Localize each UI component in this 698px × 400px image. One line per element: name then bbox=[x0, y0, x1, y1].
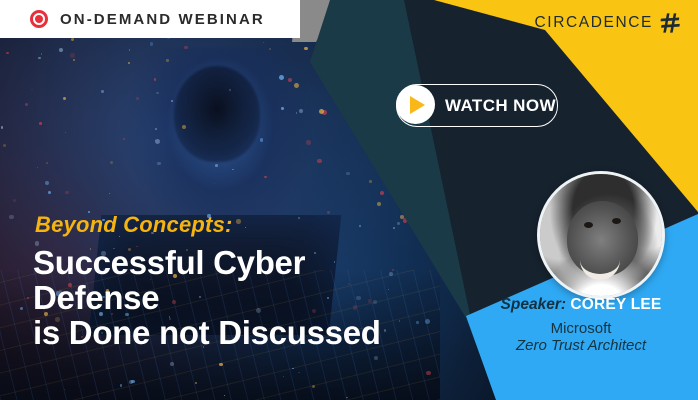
on-demand-bar: ON-DEMAND WEBINAR bbox=[0, 0, 300, 38]
play-triangle-icon bbox=[410, 96, 425, 114]
speaker-name: COREY LEE bbox=[570, 296, 661, 313]
avatar bbox=[537, 171, 665, 299]
watch-now-button[interactable]: WATCH NOW bbox=[396, 84, 558, 127]
speaker-label: Speaker: bbox=[501, 296, 566, 313]
circadence-logo[interactable]: CIRCADENCE bbox=[535, 12, 682, 34]
webinar-promo-banner: ON-DEMAND WEBINAR CIRCADENCE WATCH NOW B… bbox=[0, 0, 698, 400]
watch-now-label: WATCH NOW bbox=[445, 96, 556, 116]
play-button-circle[interactable] bbox=[396, 85, 435, 124]
speaker-name-line: Speaker: COREY LEE bbox=[470, 296, 692, 314]
headline-line-2: is Done not Discussed bbox=[33, 315, 433, 350]
headline-line-1: Successful Cyber Defense bbox=[33, 245, 433, 315]
avatar-eye-left bbox=[584, 222, 593, 228]
speaker-company: Microsoft bbox=[470, 320, 692, 337]
speaker-role: Zero Trust Architect bbox=[470, 337, 692, 354]
on-demand-label: ON-DEMAND WEBINAR bbox=[60, 11, 265, 28]
headline-kicker: Beyond Concepts: bbox=[35, 212, 233, 238]
headline-title: Successful Cyber Defense is Done not Dis… bbox=[33, 245, 433, 350]
record-dot-icon bbox=[30, 10, 48, 28]
logo-wordmark: CIRCADENCE bbox=[535, 14, 653, 32]
hash-mark-icon bbox=[660, 12, 682, 34]
avatar-eye-right bbox=[612, 218, 621, 224]
